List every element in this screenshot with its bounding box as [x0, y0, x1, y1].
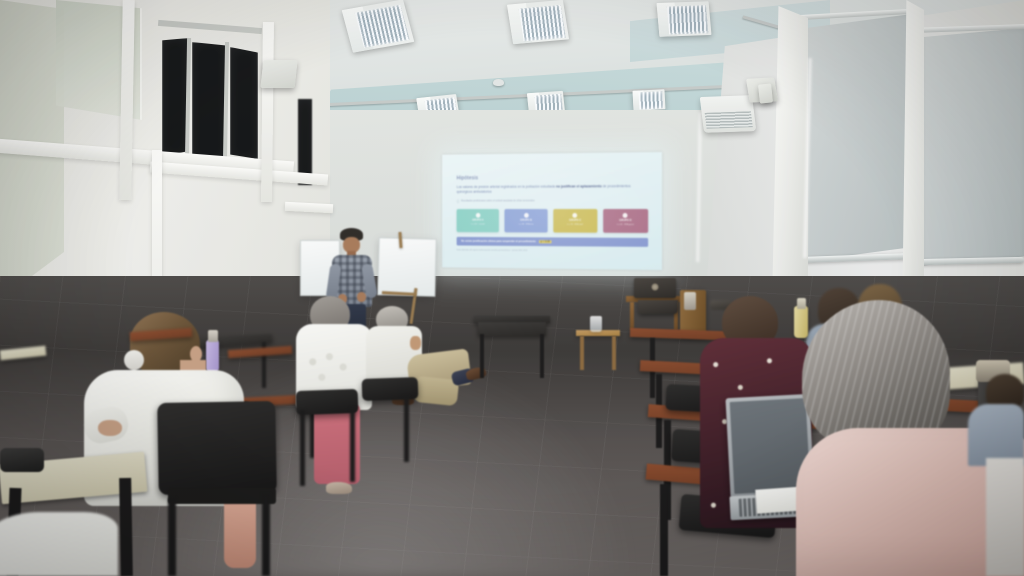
side-table-leg: [612, 336, 616, 370]
window-pane-left-1: [162, 38, 188, 156]
whiteboard: [377, 237, 436, 296]
smoke-detector: [493, 79, 504, 86]
card-subtitle: n = 98 · HTA leve: [519, 223, 534, 225]
ceiling-light-6: [632, 89, 665, 111]
projector-laptop: [634, 278, 676, 298]
card-badge-icon: [476, 212, 481, 217]
projected-slide: Hipótesis Los valores de presión arteria…: [442, 152, 662, 270]
projection-screen: Hipótesis Los valores de presión arteria…: [442, 152, 662, 270]
person-far-right-lower: [986, 458, 1024, 576]
slide-body-line-1: Los valores de presión arterial registra…: [457, 185, 555, 189]
air-conditioner: [700, 95, 757, 133]
person-far-right-shirt: [968, 404, 1024, 466]
card-subtitle: n = 76 · HTA mod.: [567, 223, 583, 225]
laptop-stand-leg: [630, 302, 634, 330]
chair-seat: [168, 488, 276, 504]
shoe: [326, 482, 352, 494]
chair-leg: [404, 396, 409, 462]
card-subtitle: n = 41 · HTA grave: [617, 223, 634, 225]
card-badge-icon: [623, 212, 628, 217]
card-badge-icon: [573, 212, 578, 217]
laptop-logo-icon: [652, 284, 659, 291]
slide-title: Hipótesis: [457, 174, 649, 181]
wall-sensor-right: [758, 83, 773, 103]
lectern-paper: [684, 292, 696, 310]
chair-leg: [300, 410, 305, 486]
window-blind-near: [800, 14, 912, 262]
chair-back: [296, 389, 359, 415]
card-subtitle: n = 112 · control: [471, 223, 485, 225]
window-pane-left-3: [230, 47, 258, 159]
side-table-leg: [580, 336, 584, 370]
table-leg: [480, 334, 484, 378]
card-title: GRUPO C: [569, 219, 581, 222]
ceiling-light-3: [656, 1, 711, 37]
slide-footer: Datos obtenidos del registro institucion…: [457, 249, 649, 254]
bag-on-desk: [0, 448, 44, 472]
ceiling-light-2: [507, 0, 569, 44]
chair-back: [157, 401, 277, 495]
info-icon: ⓘ: [457, 199, 460, 203]
card-title: GRUPO A: [472, 219, 483, 222]
slide-banner-highlight: p < 0.05: [539, 240, 552, 243]
desk-leg: [660, 484, 668, 576]
card-badge-icon: [524, 212, 529, 217]
window-blind-far: [918, 28, 1024, 266]
hand: [410, 336, 421, 350]
table-center-back-apron: [478, 322, 546, 336]
slide-card: GRUPO A n = 112 · control: [457, 209, 500, 232]
table-leg: [540, 334, 544, 378]
slide-note: ⓘ Resultados preliminares sobre el umbra…: [457, 199, 649, 203]
slide-card-row: GRUPO A n = 112 · control GRUPO B n = 98…: [457, 209, 649, 233]
slide-card: GRUPO D n = 41 · HTA grave: [603, 209, 648, 233]
chair-leg: [168, 498, 176, 576]
slide-body-highlight: no justifican el aplazamiento: [556, 184, 602, 188]
hand: [98, 420, 122, 436]
slide-body: Los valores de presión arterial registra…: [457, 184, 637, 195]
desk-leg: [119, 478, 133, 576]
slide-banner-text: No existe justificación clínica para sus…: [461, 239, 536, 242]
card-title: GRUPO D: [619, 219, 631, 222]
chair-leg: [350, 408, 355, 482]
slide-banner: No existe justificación clínica para sus…: [457, 236, 649, 246]
window-pane-left-2: [192, 42, 226, 160]
slide-card: GRUPO B n = 98 · HTA leve: [504, 209, 548, 232]
wall-speaker-left: [260, 60, 297, 88]
hair-tie: [124, 350, 144, 370]
slide-card: GRUPO C n = 76 · HTA mod.: [553, 209, 597, 233]
slide-note-text: Resultados preliminares sobre el umbral …: [461, 199, 534, 202]
chair-leg: [262, 494, 270, 576]
card-title: GRUPO B: [520, 219, 532, 222]
projector-laptop-base: [638, 300, 678, 314]
chair-back: [362, 377, 419, 401]
wall-pilaster-3: [261, 22, 274, 202]
person-foreground-left-shoulder: [0, 512, 118, 576]
water-pitcher: [590, 316, 602, 332]
classroom-scene: Hipótesis Los valores de presión arteria…: [0, 0, 1024, 576]
